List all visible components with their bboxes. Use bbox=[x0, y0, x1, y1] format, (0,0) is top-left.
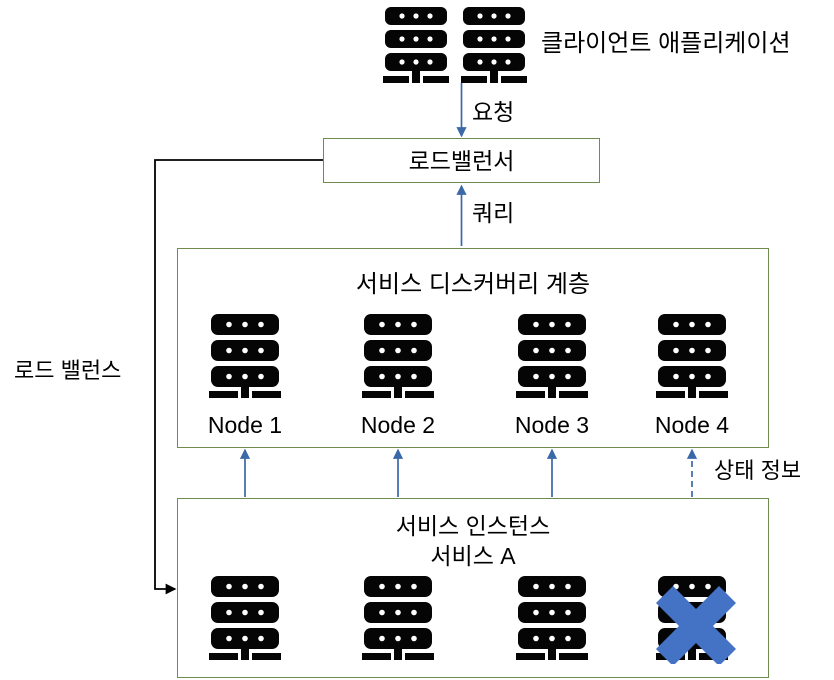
client-application-label: 클라이언트 애플리케이션 bbox=[541, 30, 791, 58]
service-instance-icon-2 bbox=[360, 576, 436, 660]
discovery-node-label-1: Node 1 bbox=[185, 412, 305, 438]
discovery-node-icon-3 bbox=[514, 314, 590, 398]
service-instances-title-line1: 서비스 인스턴스 bbox=[177, 513, 769, 539]
request-label: 요청 bbox=[472, 99, 514, 125]
status-info-label: 상태 정보 bbox=[714, 458, 801, 483]
discovery-node-icon-2 bbox=[360, 314, 436, 398]
load-balance-label: 로드 밸런스 bbox=[14, 358, 121, 383]
service-instance-icon-1 bbox=[207, 576, 283, 660]
client-server-icon-right bbox=[461, 6, 527, 84]
discovery-node-icon-4 bbox=[654, 314, 730, 398]
discovery-node-label-2: Node 2 bbox=[338, 412, 458, 438]
instance-failure-x-icon bbox=[650, 580, 742, 664]
query-label: 쿼리 bbox=[472, 200, 514, 226]
discovery-node-label-4: Node 4 bbox=[632, 412, 752, 438]
client-server-icon-left bbox=[383, 6, 449, 84]
discovery-node-icon-1 bbox=[207, 314, 283, 398]
diagram-canvas: 클라이언트 애플리케이션 요청 로드밸런서 쿼리 로드 밸런스 서비스 디스커버… bbox=[0, 0, 834, 680]
service-instances-title-line2: 서비스 A bbox=[177, 543, 769, 569]
discovery-node-label-3: Node 3 bbox=[492, 412, 612, 438]
load-balancer-label: 로드밸런서 bbox=[323, 148, 600, 174]
service-instance-icon-3 bbox=[514, 576, 590, 660]
service-discovery-layer-title: 서비스 디스커버리 계층 bbox=[177, 271, 769, 299]
